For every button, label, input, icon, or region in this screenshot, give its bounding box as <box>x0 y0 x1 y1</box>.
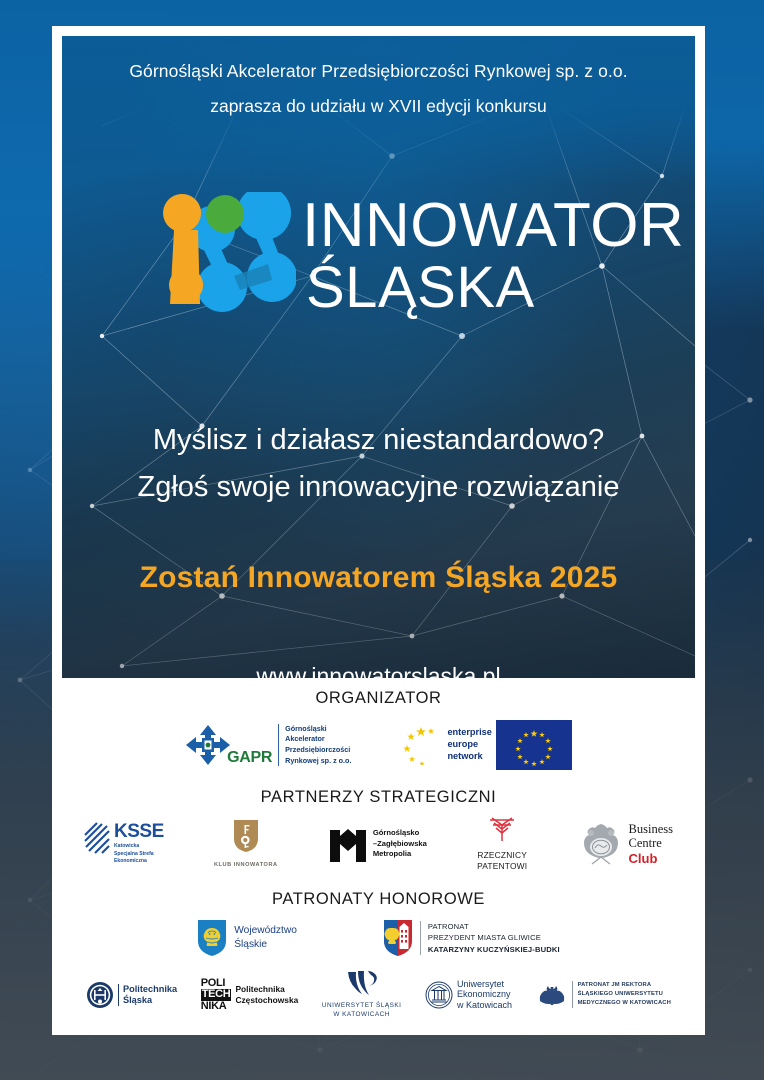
poster-stage: Górnośląski Akcelerator Przedsiębiorczoś… <box>0 0 764 1080</box>
patronage-logo-wojewodztwo-slaskie: Województwo Śląskie <box>197 919 297 957</box>
ue-line-2: Ekonomiczny <box>457 989 512 1000</box>
partners-title: PARTNERZY STRATEGICZNI <box>62 788 695 807</box>
gapr-acronym: GAPR <box>227 749 272 767</box>
sponsors-area: ORGANIZATOR GAPR <box>62 678 695 1025</box>
bcc-line-2: Centre <box>629 836 673 851</box>
metropolia-line-1: Górnośląsko <box>373 828 427 839</box>
rzecznicy-patentowi-text: RZECZNICY PATENTOWI <box>477 850 527 872</box>
bcc-line-3: Club <box>629 851 673 866</box>
us-line-2: W KATOWICACH <box>322 1010 402 1020</box>
university-logo-politechnika-slaska: Politechnika Śląska <box>86 981 177 1009</box>
ksse-desc-line-3: Ekonomiczna <box>114 858 164 866</box>
pcz-line-2: Częstochowska <box>235 995 298 1006</box>
partner-logo-business-centre-club: Business Centre Club <box>578 821 673 867</box>
gliwice-coat-of-arms-icon <box>383 919 413 957</box>
universities-logos-row: Politechnika Śląska POLI TECH NIKA Polit… <box>62 970 695 1020</box>
uniwersytet-ekonomiczny-seal-icon <box>425 981 453 1009</box>
bcc-crest-icon <box>578 821 624 867</box>
sum-line-2: ŚLĄSKIEGO UNIWERSYTETU <box>578 990 671 999</box>
innowator-logo-text: INNOWATOR ŚLĄSKA <box>302 196 684 317</box>
slogan-line-2: Zgłoś swoje innowacyjne rozwiązanie <box>62 471 695 504</box>
bcc-line-1: Business <box>629 822 673 837</box>
gapr-description: Górnośląski Akcelerator Przedsiębiorczoś… <box>278 724 351 767</box>
poster-slogan: Myślisz i działasz niestandardowo? Zgłoś… <box>62 424 695 504</box>
sum-line-3: MEDYCZNEGO W KATOWICACH <box>578 999 671 1008</box>
een-line-3: network <box>447 751 491 763</box>
university-logo-slaski-uniwersytet-medyczny: PATRONAT JM REKTORA ŚLĄSKIEGO UNIWERSYTE… <box>536 981 671 1008</box>
hero-panel: Górnośląski Akcelerator Przedsiębiorczoś… <box>62 36 695 678</box>
pcz-mark-line-3: NIKA <box>201 1001 232 1012</box>
gapr-desc-line-3: Przedsiębiorczości <box>285 745 351 756</box>
slogan-line-1: Myślisz i działasz niestandardowo? <box>62 424 695 457</box>
university-logo-uniwersytet-slaski: UNIWERSYTET ŚLĄSKI W KATOWICACH <box>322 970 402 1020</box>
metropolia-m-icon <box>328 824 368 864</box>
gliwice-line-1: PATRONAT <box>428 921 560 932</box>
een-stars-icon <box>403 725 443 765</box>
rzecznicy-line-1: RZECZNICY <box>477 850 527 861</box>
eu-flag-icon <box>496 720 572 770</box>
metropolia-line-2: –Zagłębiowska <box>373 839 427 850</box>
uniwersytet-slaski-mark-icon <box>342 970 382 996</box>
ue-line-3: w Katowicach <box>457 1000 512 1011</box>
partner-logo-ksse: KSSE Katowicka Specjalna Strefa Ekonomic… <box>84 822 164 866</box>
partner-logo-klub-innowatora: KLUB INNOWATORA <box>214 819 278 868</box>
gapr-desc-line-2: Akcelerator <box>285 734 351 745</box>
gliwice-line-2: PREZYDENT MIASTA GLIWICE <box>428 932 560 943</box>
rzecznicy-line-2: PATENTOWI <box>477 861 527 872</box>
poster-card: Górnośląski Akcelerator Przedsiębiorczoś… <box>62 36 695 1025</box>
wojewodztwo-line-2: Śląskie <box>234 938 297 952</box>
een-text: enterprise europe network <box>447 727 491 762</box>
ksse-acronym: KSSE <box>114 822 164 841</box>
sum-crest-icon <box>536 983 568 1007</box>
partners-logos-row: KSSE Katowicka Specjalna Strefa Ekonomic… <box>62 816 695 872</box>
poster-header: Górnośląski Akcelerator Przedsiębiorczoś… <box>62 36 695 117</box>
bcc-text: Business Centre Club <box>629 822 673 867</box>
een-line-1: enterprise <box>447 727 491 739</box>
pcz-mark: POLI TECH NIKA <box>201 978 232 1012</box>
sum-text: PATRONAT JM REKTORA ŚLĄSKIEGO UNIWERSYTE… <box>572 981 671 1008</box>
wojewodztwo-line-1: Województwo <box>234 924 297 938</box>
ksse-desc-line-2: Specjalna Strefa <box>114 851 164 859</box>
metropolia-text: Górnośląsko –Zagłębiowska Metropolia <box>373 828 427 860</box>
gliwice-line-3: KATARZYNY KUCZYŃSKIEJ-BUDKI <box>428 944 560 955</box>
partner-logo-metropolia: Górnośląsko –Zagłębiowska Metropolia <box>328 824 427 864</box>
gapr-logo: GAPR Górnośląski Akcelerator Przedsiębio… <box>185 724 351 767</box>
organizer-title: ORGANIZATOR <box>62 689 695 708</box>
pcz-text: Politechnika Częstochowska <box>235 984 298 1005</box>
silesia-coat-of-arms-icon <box>197 919 227 957</box>
header-line-2: zaprasza do udziału w XVII edycji konkur… <box>62 96 695 117</box>
patronage-logos-row: Województwo Śląskie <box>62 919 695 957</box>
molecule-logo-icon <box>156 192 296 347</box>
ksse-bars-icon <box>84 822 110 854</box>
website-url[interactable]: www.innowatorslaska.pl <box>62 663 695 678</box>
sum-line-1: PATRONAT JM REKTORA <box>578 981 671 990</box>
gold-headline: Zostań Innowatorem Śląska 2025 <box>62 561 695 595</box>
pcz-line-1: Politechnika <box>235 984 298 995</box>
gapr-arrows-icon <box>185 724 231 766</box>
rzecznicy-patentowi-emblem-icon <box>485 816 519 842</box>
politechnika-slaska-text: Politechnika Śląska <box>118 984 177 1006</box>
ue-line-1: Uniwersytet <box>457 979 512 990</box>
enterprise-europe-network-logo: enterprise europe network <box>403 720 571 770</box>
gliwice-text: PATRONAT PREZYDENT MIASTA GLIWICE KATARZ… <box>420 921 560 955</box>
gapr-desc-line-4: Rynkowej sp. z o.o. <box>285 756 351 767</box>
pcz-mark-line-2: TECH <box>201 989 232 1000</box>
logo-word-innowator: INNOWATOR <box>302 196 684 257</box>
patronage-title: PATRONATY HONOROWE <box>62 890 695 909</box>
header-line-1: Górnośląski Akcelerator Przedsiębiorczoś… <box>62 61 695 82</box>
uniwersytet-ekonomiczny-text: Uniwersytet Ekonomiczny w Katowicach <box>457 979 512 1012</box>
klub-innowatora-shield-icon <box>233 819 259 853</box>
metropolia-line-3: Metropolia <box>373 849 427 860</box>
polsl-line-1: Politechnika <box>123 984 177 995</box>
partner-logo-rzecznicy-patentowi: RZECZNICY PATENTOWI <box>477 816 527 872</box>
ksse-desc-line-1: Katowicka <box>114 843 164 851</box>
gapr-desc-line-1: Górnośląski <box>285 724 351 735</box>
us-line-1: UNIWERSYTET ŚLĄSKI <box>322 1001 402 1011</box>
university-logo-uniwersytet-ekonomiczny: Uniwersytet Ekonomiczny w Katowicach <box>425 979 512 1012</box>
patronage-logo-gliwice: PATRONAT PREZYDENT MIASTA GLIWICE KATARZ… <box>383 919 560 957</box>
polsl-line-2: Śląska <box>123 995 177 1006</box>
innowator-logo: INNOWATOR ŚLĄSKA <box>62 184 695 354</box>
logo-word-slaska: ŚLĄSKA <box>306 259 684 317</box>
een-line-2: europe <box>447 739 491 751</box>
politechnika-slaska-seal-icon <box>86 981 114 1009</box>
klub-innowatora-label: KLUB INNOWATORA <box>214 862 278 868</box>
ksse-description: Katowicka Specjalna Strefa Ekonomiczna <box>114 843 164 866</box>
organizer-logos-row: GAPR Górnośląski Akcelerator Przedsiębio… <box>62 720 695 770</box>
uniwersytet-slaski-text: UNIWERSYTET ŚLĄSKI W KATOWICACH <box>322 1001 402 1020</box>
wojewodztwo-text: Województwo Śląskie <box>234 924 297 952</box>
university-logo-politechnika-czestochowska: POLI TECH NIKA Politechnika Częstochowsk… <box>201 978 299 1012</box>
